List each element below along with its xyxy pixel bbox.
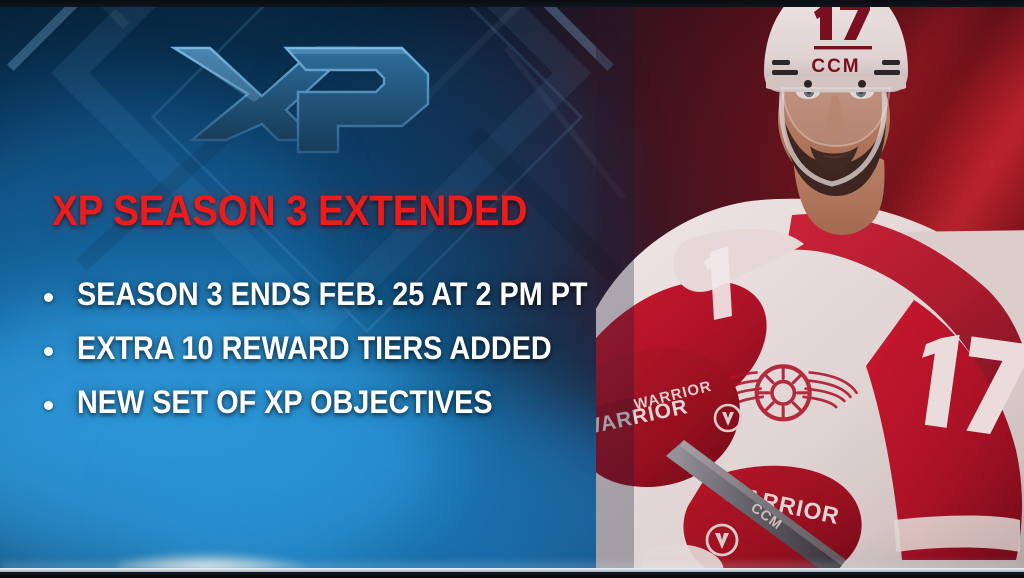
xp-season-banner: XP SEASON 3 EXTENDED SEASON 3 ENDS FEB. …: [0, 0, 1024, 578]
list-item: EXTRA 10 REWARD TIERS ADDED: [44, 332, 604, 365]
xp-logo-icon: [166, 22, 466, 162]
bottom-border-band: [0, 572, 1024, 578]
ice-spray-effect: [118, 544, 368, 570]
list-item: NEW SET OF XP OBJECTIVES: [44, 386, 604, 419]
headline-xp-season-extended: XP SEASON 3 EXTENDED: [52, 190, 527, 233]
bullet-list: SEASON 3 ENDS FEB. 25 AT 2 PM PT EXTRA 1…: [44, 278, 604, 440]
bullet-dot-icon: [44, 347, 53, 356]
hockey-player-image: CCM WARRIOR WARRIOR: [596, 0, 1024, 578]
bullet-text: SEASON 3 ENDS FEB. 25 AT 2 PM PT: [77, 278, 588, 311]
bullet-text: NEW SET OF XP OBJECTIVES: [77, 386, 493, 419]
bullet-text: EXTRA 10 REWARD TIERS ADDED: [77, 332, 552, 365]
list-item: SEASON 3 ENDS FEB. 25 AT 2 PM PT: [44, 278, 604, 311]
bullet-dot-icon: [44, 401, 53, 410]
bullet-dot-icon: [44, 293, 53, 302]
top-border-band: [0, 0, 1024, 7]
